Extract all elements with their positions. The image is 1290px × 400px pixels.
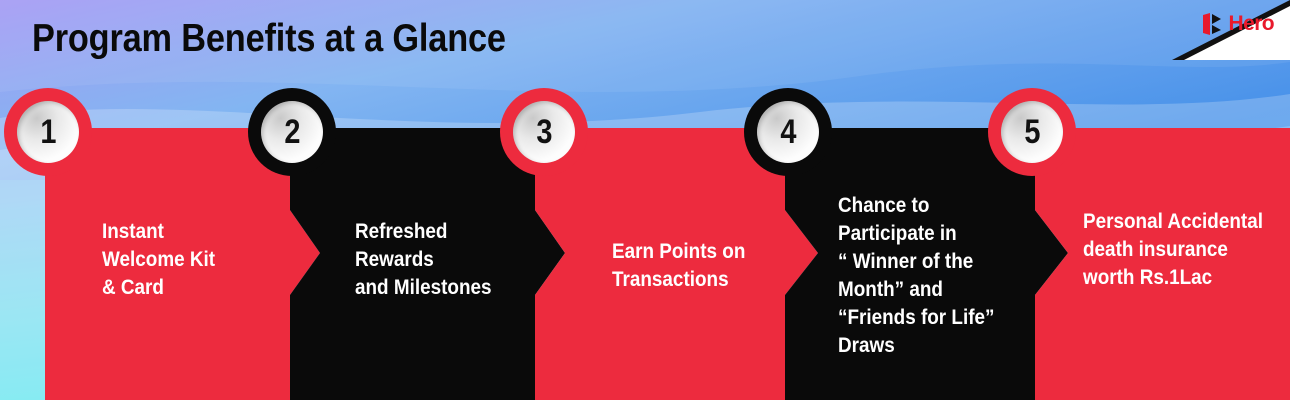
hero-logo-mark-icon — [1203, 13, 1223, 35]
step-badge-5-inner: 5 — [1001, 101, 1063, 163]
step-badge-1-inner: 1 — [17, 101, 79, 163]
infographic-canvas: Program Benefits at a Glance Hero Instan… — [0, 0, 1290, 400]
step-5-text: Personal Accidental death insurance wort… — [1083, 208, 1272, 292]
step-badge-1-number: 1 — [40, 115, 56, 149]
step-1-text: Instant Welcome Kit & Card — [102, 218, 273, 302]
step-3-text: Earn Points on Transactions — [612, 238, 801, 294]
step-badge-2-number: 2 — [284, 115, 300, 149]
step-badge-2-inner: 2 — [261, 101, 323, 163]
step-badge-3[interactable]: 3 — [500, 88, 588, 176]
brand-logo: Hero — [1203, 13, 1274, 35]
step-2-text: Refreshed Rewards and Milestones — [355, 218, 553, 302]
step-badge-5-number: 5 — [1024, 115, 1040, 149]
step-badge-2[interactable]: 2 — [248, 88, 336, 176]
page-title: Program Benefits at a Glance — [32, 17, 506, 61]
step-badge-4-number: 4 — [780, 115, 796, 149]
step-badge-5[interactable]: 5 — [988, 88, 1076, 176]
step-badge-4[interactable]: 4 — [744, 88, 832, 176]
brand-name: Hero — [1229, 13, 1274, 35]
step-badge-1[interactable]: 1 — [4, 88, 92, 176]
step-badge-3-number: 3 — [536, 115, 552, 149]
step-badge-4-inner: 4 — [757, 101, 819, 163]
step-badge-3-inner: 3 — [513, 101, 575, 163]
step-4-text: Chance to Participate in “ Winner of the… — [838, 192, 1027, 360]
